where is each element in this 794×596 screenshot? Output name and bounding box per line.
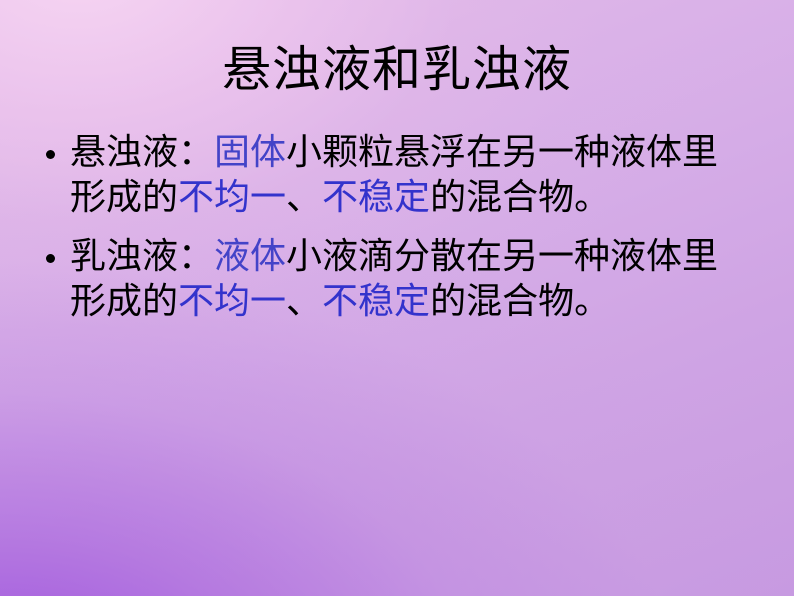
segment-term: 悬浊液： (70, 132, 214, 173)
bullet-text-emulsion: 乳浊液：液体小液滴分散在另一种液体里形成的不均一、不稳定的混合物。 (70, 234, 736, 324)
segment-tail: 的混合物。 (430, 281, 610, 322)
list-item: 悬浊液：固体小颗粒悬浮在另一种液体里形成的不均一、不稳定的混合物。 (36, 130, 736, 220)
segment-highlight-unstable: 不稳定 (322, 177, 430, 218)
presentation-slide: 悬浊液和乳浊液 悬浊液：固体小颗粒悬浮在另一种液体里形成的不均一、不稳定的混合物… (0, 0, 794, 596)
segment-highlight-solid: 固体 (214, 132, 286, 173)
bullet-text-suspension: 悬浊液：固体小颗粒悬浮在另一种液体里形成的不均一、不稳定的混合物。 (70, 130, 736, 220)
segment-tail: 的混合物。 (430, 177, 610, 218)
segment-separator: 、 (286, 177, 322, 218)
segment-highlight-nonuniform: 不均一 (178, 281, 286, 322)
segment-highlight-nonuniform: 不均一 (178, 177, 286, 218)
bullet-dot-icon (46, 254, 55, 263)
bullet-list: 悬浊液：固体小颗粒悬浮在另一种液体里形成的不均一、不稳定的混合物。 乳浊液：液体… (36, 130, 736, 338)
segment-term: 乳浊液： (70, 236, 214, 277)
segment-separator: 、 (286, 281, 322, 322)
segment-highlight-unstable: 不稳定 (322, 281, 430, 322)
list-item: 乳浊液：液体小液滴分散在另一种液体里形成的不均一、不稳定的混合物。 (36, 234, 736, 324)
bullet-dot-icon (46, 150, 55, 159)
slide-title: 悬浊液和乳浊液 (0, 40, 794, 100)
segment-highlight-liquid: 液体 (214, 236, 286, 277)
